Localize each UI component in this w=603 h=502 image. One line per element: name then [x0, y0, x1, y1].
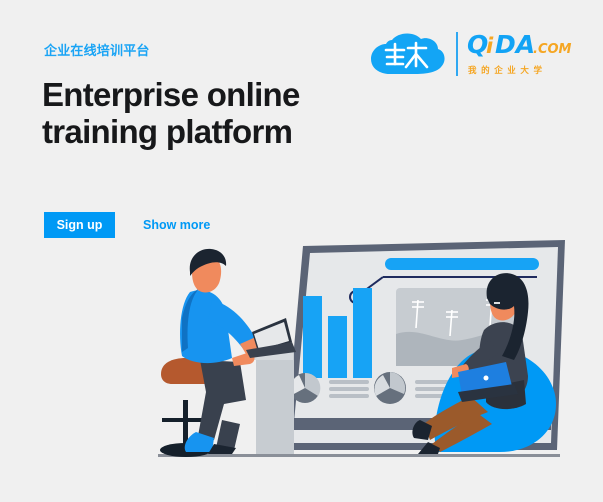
show-more-link[interactable]: Show more: [143, 212, 210, 238]
text-lines-2: [415, 380, 455, 398]
man-shoe-front: [185, 432, 214, 452]
woman-shoe-front: [412, 420, 432, 440]
man-with-laptop: [160, 249, 296, 457]
pie-chart-2: [374, 372, 406, 404]
woman-head: [490, 284, 518, 321]
stool-seat: [161, 358, 206, 384]
woman-torso: [479, 322, 528, 403]
man-legs: [198, 360, 246, 440]
pointer-marker: [350, 291, 362, 303]
man-shoe-back: [208, 444, 236, 454]
man-laptop-base: [246, 342, 296, 358]
screen-header-bar: [385, 258, 539, 270]
woman-laptop-screen: [458, 362, 512, 396]
logo-divider: [456, 32, 458, 76]
bar-3: [353, 288, 372, 378]
woman-shoe-back: [418, 442, 440, 454]
stool-base: [160, 443, 212, 457]
woman-hair: [487, 273, 529, 360]
bar-2: [328, 316, 347, 378]
page-canvas: 企业在线培训平台 Q i DA .COM 我的企业大学 Enterprise: [0, 0, 603, 502]
pie-chart-1: [290, 373, 320, 403]
woman-hand: [452, 364, 469, 378]
text-lines-1: [329, 380, 369, 398]
eyebrow-text: 企业在线培训平台: [44, 40, 150, 59]
stool-post: [183, 400, 188, 450]
man-torso: [180, 290, 232, 363]
svg-text:.COM: .COM: [533, 42, 572, 57]
cloud-logo-icon: [370, 30, 448, 78]
bar-chart: [303, 288, 372, 378]
brand-logo[interactable]: Q i DA .COM 我的企业大学: [370, 26, 570, 86]
man-hand-upper: [240, 336, 264, 354]
widget-row: [290, 372, 494, 404]
svg-text:i: i: [486, 34, 494, 58]
woman-leg-back: [432, 412, 492, 452]
map-panel: [396, 288, 518, 366]
page-title: Enterprise online training platform: [42, 76, 342, 150]
ground-line: [158, 454, 560, 457]
brand-tagline: 我的企业大学: [468, 64, 547, 76]
podium: [251, 352, 294, 454]
woman-on-beanbag: [412, 273, 556, 454]
man-head: [192, 256, 221, 293]
man-hair: [190, 249, 226, 276]
woman-laptop-base: [458, 384, 518, 402]
stool-footrest: [162, 418, 210, 422]
man-laptop-screen: [252, 318, 292, 352]
pie-chart-3: [462, 372, 494, 404]
man-arm: [208, 300, 256, 350]
woman-leg-front: [424, 396, 488, 440]
beanbag: [435, 349, 556, 452]
dashboard-screen: [285, 240, 565, 450]
sign-up-button[interactable]: Sign up: [44, 212, 115, 238]
bar-1: [303, 296, 322, 378]
svg-text:DA: DA: [495, 30, 535, 59]
brand-wordmark-icon: Q i DA .COM: [467, 28, 573, 62]
man-hand-lower: [232, 352, 255, 366]
woman-arm: [458, 340, 498, 380]
